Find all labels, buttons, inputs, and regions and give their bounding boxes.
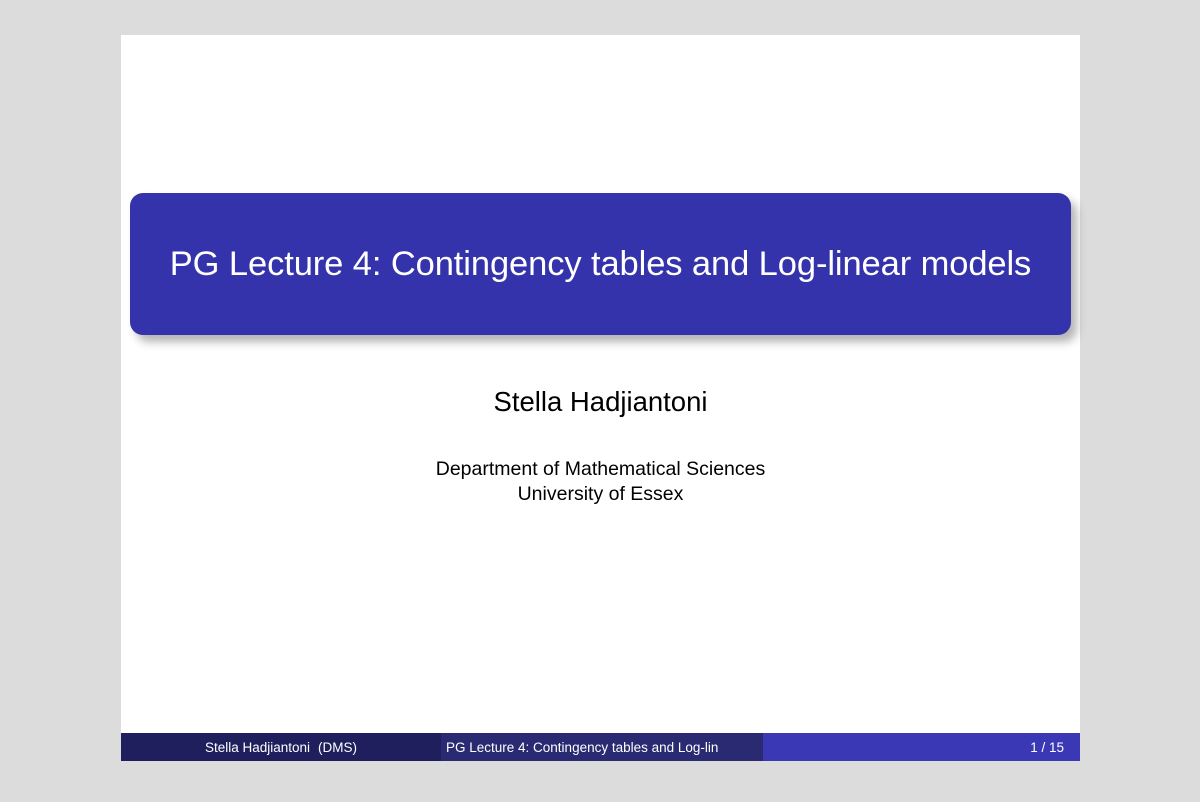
author-block: Stella Hadjiantoni Department of Mathema…: [121, 385, 1080, 507]
author-name: Stella Hadjiantoni: [121, 385, 1080, 419]
footer-title-text: PG Lecture 4: Contingency tables and Log…: [446, 740, 718, 755]
affiliation-department: Department of Mathematical Sciences: [121, 457, 1080, 482]
footer-author-name: Stella Hadjiantoni: [205, 740, 310, 755]
slide-title-banner: PG Lecture 4: Contingency tables and Log…: [130, 193, 1071, 335]
slide-footer-bar: Stella Hadjiantoni (DMS) PG Lecture 4: C…: [121, 733, 1080, 761]
affiliation-university: University of Essex: [121, 482, 1080, 507]
footer-author-department: (DMS): [318, 740, 357, 755]
footer-page-segment: 1 / 15: [763, 733, 1080, 761]
affiliation-block: Department of Mathematical Sciences Univ…: [121, 457, 1080, 507]
slide-canvas: PG Lecture 4: Contingency tables and Log…: [121, 35, 1080, 761]
page-number: 1 / 15: [1030, 740, 1064, 755]
footer-title-segment: PG Lecture 4: Contingency tables and Log…: [441, 733, 763, 761]
footer-author-segment: Stella Hadjiantoni (DMS): [121, 733, 441, 761]
page-title: PG Lecture 4: Contingency tables and Log…: [170, 241, 1031, 288]
